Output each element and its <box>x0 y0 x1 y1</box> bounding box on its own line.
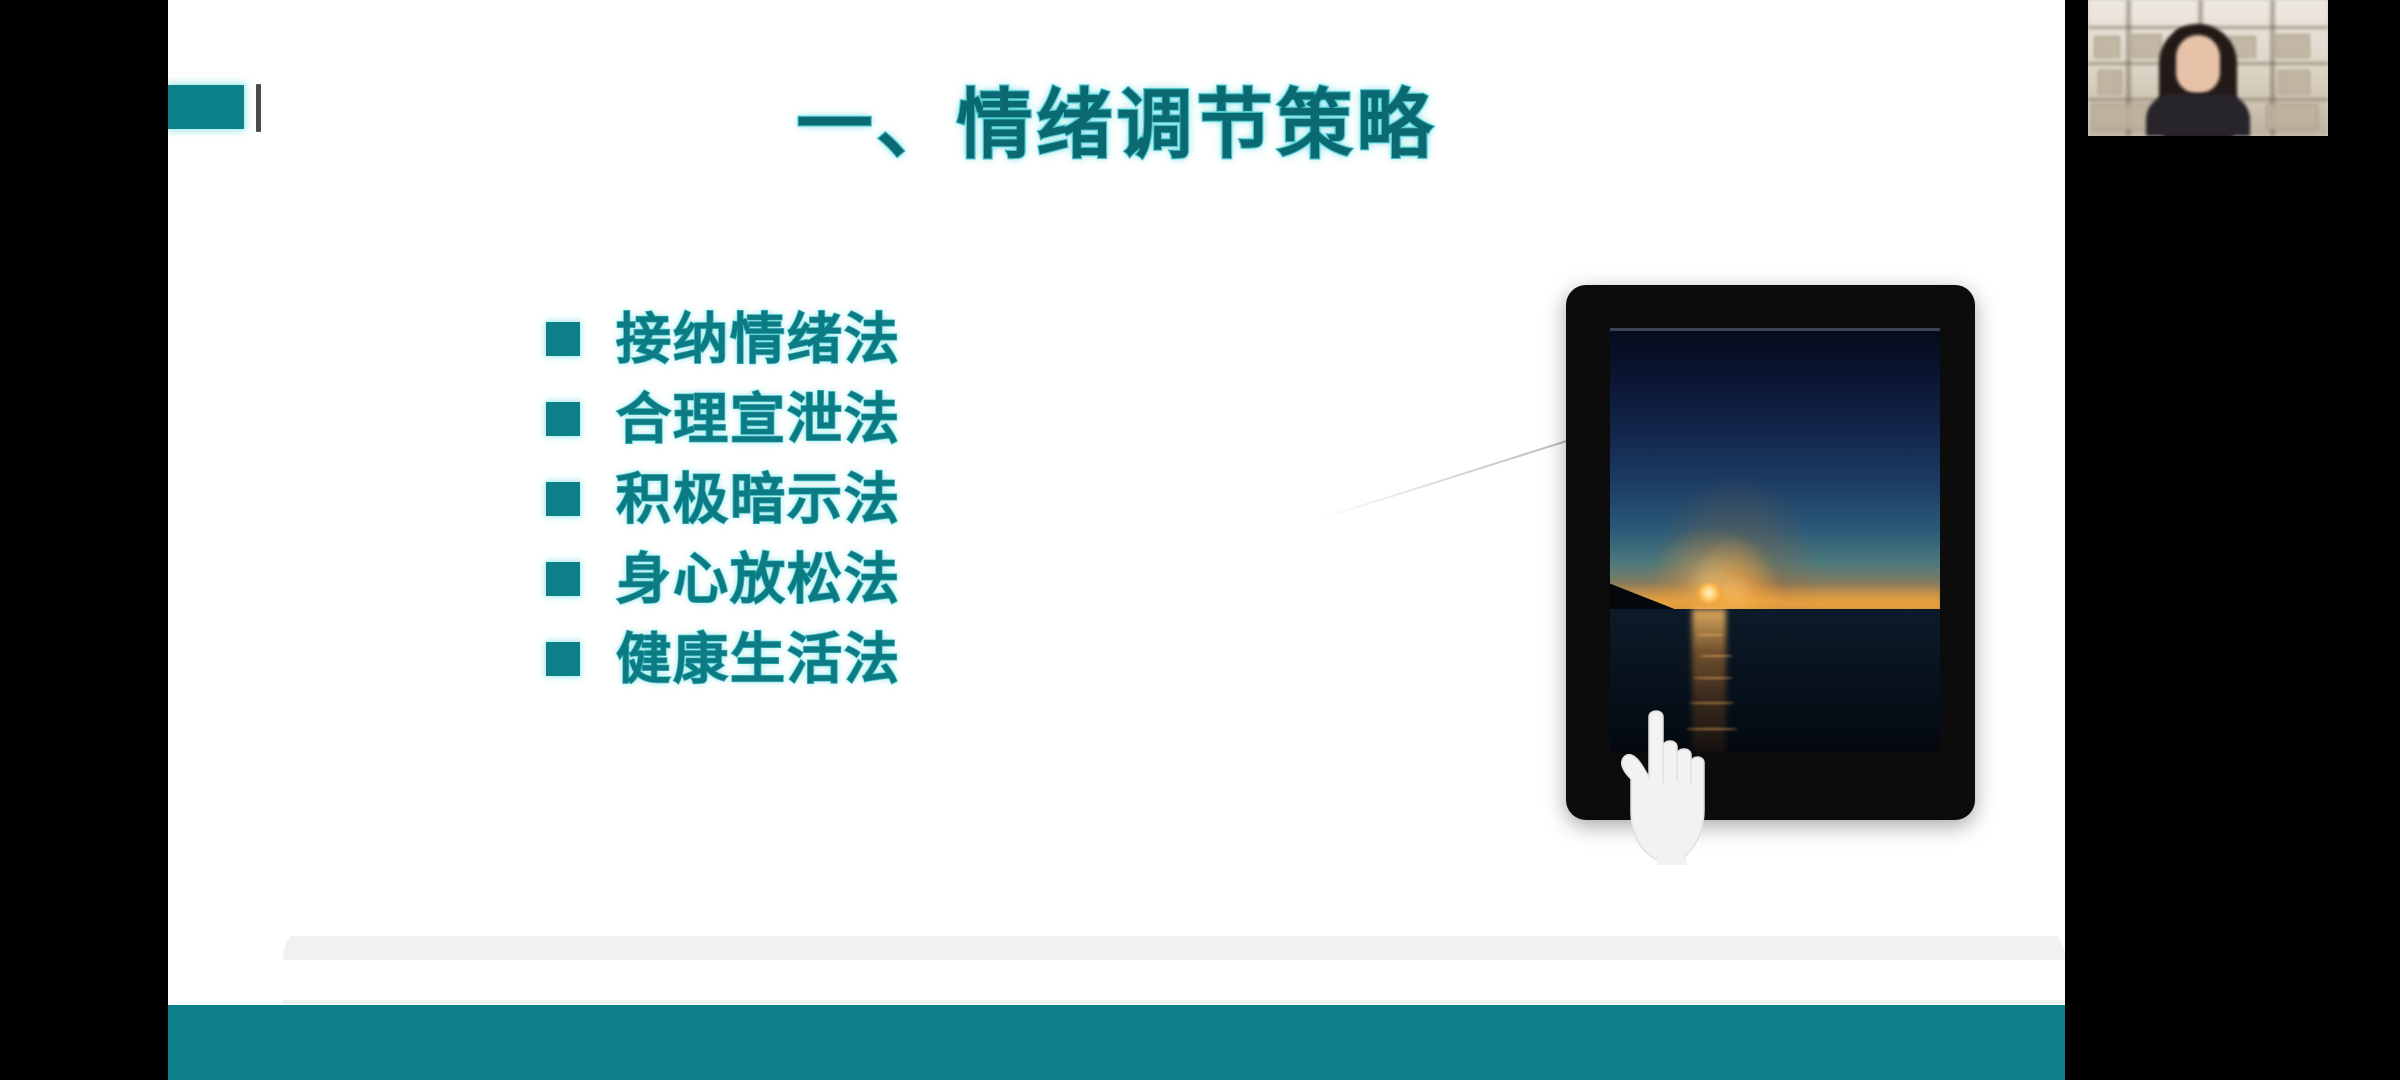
list-item: 合理宣泄法 <box>546 380 1306 458</box>
presenter-face <box>2176 35 2220 93</box>
ripple <box>1686 728 1738 730</box>
page-title: 一、情绪调节策略 <box>168 82 2065 168</box>
shelf-object <box>2278 70 2310 94</box>
shelf-object <box>2276 34 2310 58</box>
list-item: 健康生活法 <box>546 620 1306 698</box>
slide-canvas: 一、情绪调节策略 接纳情绪法 合理宣泄法 积极暗示法 身心放松法 健康生活法 <box>168 0 2065 1080</box>
list-item: 积极暗示法 <box>546 460 1306 538</box>
decorative-streak <box>1313 431 1595 522</box>
water-surface <box>1610 609 1940 754</box>
square-bullet-icon <box>546 322 580 356</box>
shelf-object <box>2132 34 2162 58</box>
square-bullet-icon <box>546 402 580 436</box>
sun-reflection-path <box>1692 609 1726 754</box>
screen-glass-highlight <box>1610 328 1940 331</box>
list-item-label: 接纳情绪法 <box>616 308 901 370</box>
sun-icon <box>1696 583 1722 603</box>
list-item-label: 身心放松法 <box>616 548 901 610</box>
shelf-object <box>2098 70 2122 94</box>
tablet-device-image <box>1566 285 1975 820</box>
presenter-torso <box>2146 94 2250 136</box>
ripple <box>1696 634 1724 636</box>
ripple <box>1689 702 1735 704</box>
list-item: 接纳情绪法 <box>546 300 1306 378</box>
list-item: 身心放松法 <box>546 540 1306 618</box>
ripple <box>1693 677 1733 679</box>
tablet-screen <box>1610 328 1940 753</box>
square-bullet-icon <box>546 642 580 676</box>
list-item-label: 合理宣泄法 <box>616 388 901 450</box>
list-item-label: 积极暗示法 <box>616 468 901 530</box>
shelf-object <box>2094 36 2120 58</box>
shelf-object <box>2092 104 2152 130</box>
square-bullet-icon <box>546 482 580 516</box>
square-bullet-icon <box>546 562 580 596</box>
list-item-label: 健康生活法 <box>616 628 901 690</box>
screen-letterbox: 一、情绪调节策略 接纳情绪法 合理宣泄法 积极暗示法 身心放松法 健康生活法 <box>0 0 2400 1080</box>
bullet-list: 接纳情绪法 合理宣泄法 积极暗示法 身心放松法 健康生活法 <box>546 300 1306 700</box>
presenter-webcam-overlay[interactable] <box>2088 0 2328 136</box>
footer-bar <box>168 1005 2065 1080</box>
shelf-object <box>2266 104 2318 130</box>
panel-white-mask <box>168 960 2065 1000</box>
